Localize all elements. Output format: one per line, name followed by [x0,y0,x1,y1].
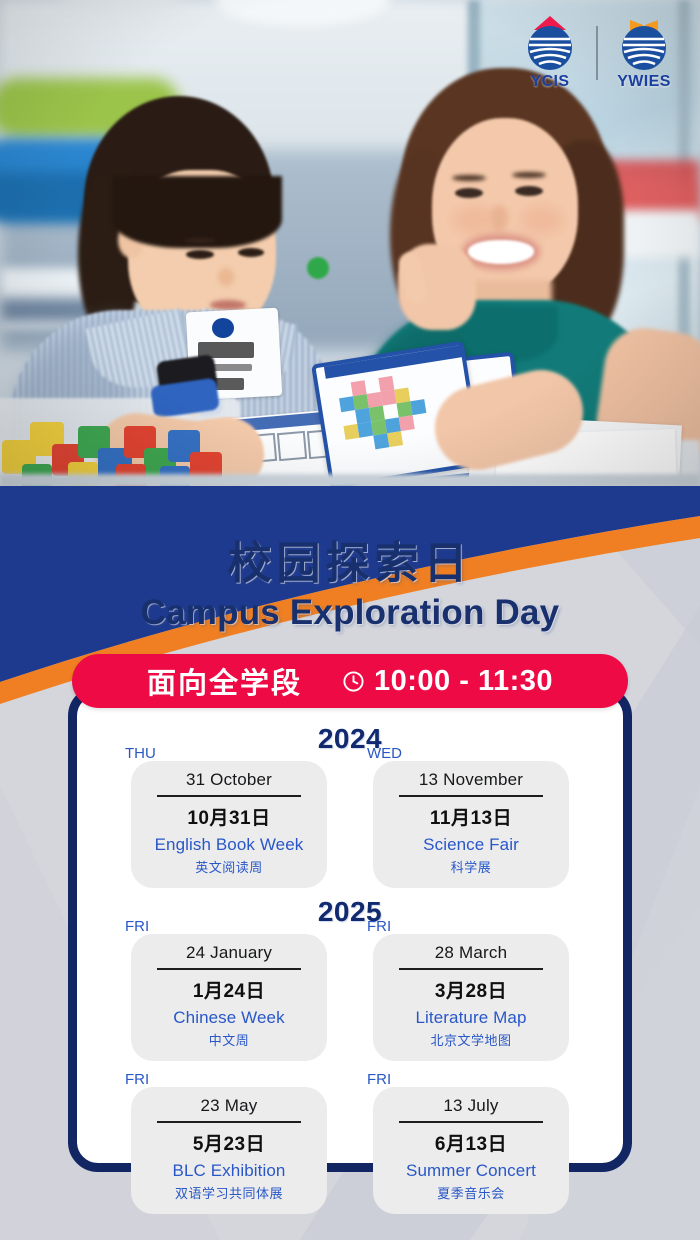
event-date-cn: 6月13日 [385,1129,557,1156]
event-card[interactable]: FRI 13 July 6月13日 Summer Concert 夏季音乐会 [373,1073,569,1214]
event-date-en: 13 July [385,1096,557,1116]
schedule-card: 2024 THU 31 October 10月31日 English Book … [68,686,632,1172]
event-divider [399,968,543,970]
event-name-en: Science Fair [385,835,557,855]
event-date-en: 23 May [143,1096,315,1116]
event-name-en: Literature Map [385,1008,557,1028]
event-date-en: 24 January [143,943,315,963]
event-divider [157,968,301,970]
event-body: 24 January 1月24日 Chinese Week 中文周 [131,934,327,1061]
ycis-globe-icon [514,14,586,72]
clock-icon [342,670,365,693]
event-date-en: 13 November [385,770,557,790]
event-dayofweek: FRI [367,918,391,935]
event-date-cn: 5月23日 [143,1129,315,1156]
event-name-cn: 科学展 [385,857,557,876]
event-date-cn: 11月13日 [385,803,557,830]
event-date-en: 31 October [143,770,315,790]
schedule-row-2025-b: FRI 23 May 5月23日 BLC Exhibition 双语学习共同体展… [95,1073,605,1214]
event-date-cn: 3月28日 [385,976,557,1003]
event-divider [399,795,543,797]
brand-logos: YCIS YWIES [514,14,680,91]
event-divider [157,795,301,797]
event-date-cn: 1月24日 [143,976,315,1003]
event-name-en: English Book Week [143,835,315,855]
event-dayofweek: FRI [125,1071,149,1088]
event-dayofweek: FRI [367,1071,391,1088]
row-spacer [95,1061,605,1073]
event-card[interactable]: THU 31 October 10月31日 English Book Week … [131,747,327,888]
event-card[interactable]: FRI 28 March 3月28日 Literature Map 北京文学地图 [373,920,569,1061]
ywies-mark [608,14,680,72]
year-heading-2024: 2024 [95,723,605,755]
event-body: 31 October 10月31日 English Book Week 英文阅读… [131,761,327,888]
event-name-cn: 双语学习共同体展 [143,1183,315,1202]
event-dayofweek: WED [367,745,402,762]
logo-divider [596,26,598,80]
title-english: Campus Exploration Day [0,592,700,634]
event-date-en: 28 March [385,943,557,963]
year-heading-2025: 2025 [95,896,605,928]
audience-label: 面向全学段 [147,660,302,702]
time-label: 10:00 - 11:30 [374,665,553,698]
event-divider [399,1121,543,1123]
event-name-en: Chinese Week [143,1008,315,1028]
ycis-wordmark: YCIS [514,73,586,91]
event-body: 23 May 5月23日 BLC Exhibition 双语学习共同体展 [131,1087,327,1214]
ycis-mark [514,14,586,72]
event-date-cn: 10月31日 [143,803,315,830]
event-card[interactable]: FRI 23 May 5月23日 BLC Exhibition 双语学习共同体展 [131,1073,327,1214]
event-card[interactable]: WED 13 November 11月13日 Science Fair 科学展 [373,747,569,888]
schedule-card-inner: 2024 THU 31 October 10月31日 English Book … [77,723,623,1214]
event-body: 13 November 11月13日 Science Fair 科学展 [373,761,569,888]
logo-ywies[interactable]: YWIES [608,14,680,91]
event-name-cn: 英文阅读周 [143,857,315,876]
title-chinese: 校园探索日 [0,538,700,590]
event-dayofweek: THU [125,745,156,762]
logo-ycis[interactable]: YCIS [514,14,586,91]
event-name-cn: 夏季音乐会 [385,1183,557,1202]
audience-time-banner: 面向全学段 10:00 - 11:30 [72,654,628,708]
event-name-cn: 中文周 [143,1030,315,1049]
event-dayofweek: FRI [125,918,149,935]
event-body: 13 July 6月13日 Summer Concert 夏季音乐会 [373,1087,569,1214]
event-name-cn: 北京文学地图 [385,1030,557,1049]
ywies-globe-icon [608,14,680,72]
event-card[interactable]: FRI 24 January 1月24日 Chinese Week 中文周 [131,920,327,1061]
event-divider [157,1121,301,1123]
schedule-row-2025-a: FRI 24 January 1月24日 Chinese Week 中文周 FR… [95,920,605,1061]
poster-title: 校园探索日 Campus Exploration Day [0,538,700,634]
event-name-en: BLC Exhibition [143,1161,315,1181]
schedule-row-2024: THU 31 October 10月31日 English Book Week … [95,747,605,888]
ywies-wordmark: YWIES [608,73,680,91]
event-name-en: Summer Concert [385,1161,557,1181]
time-group: 10:00 - 11:30 [342,665,553,698]
poster-root: 3 [0,0,700,1240]
event-body: 28 March 3月28日 Literature Map 北京文学地图 [373,934,569,1061]
